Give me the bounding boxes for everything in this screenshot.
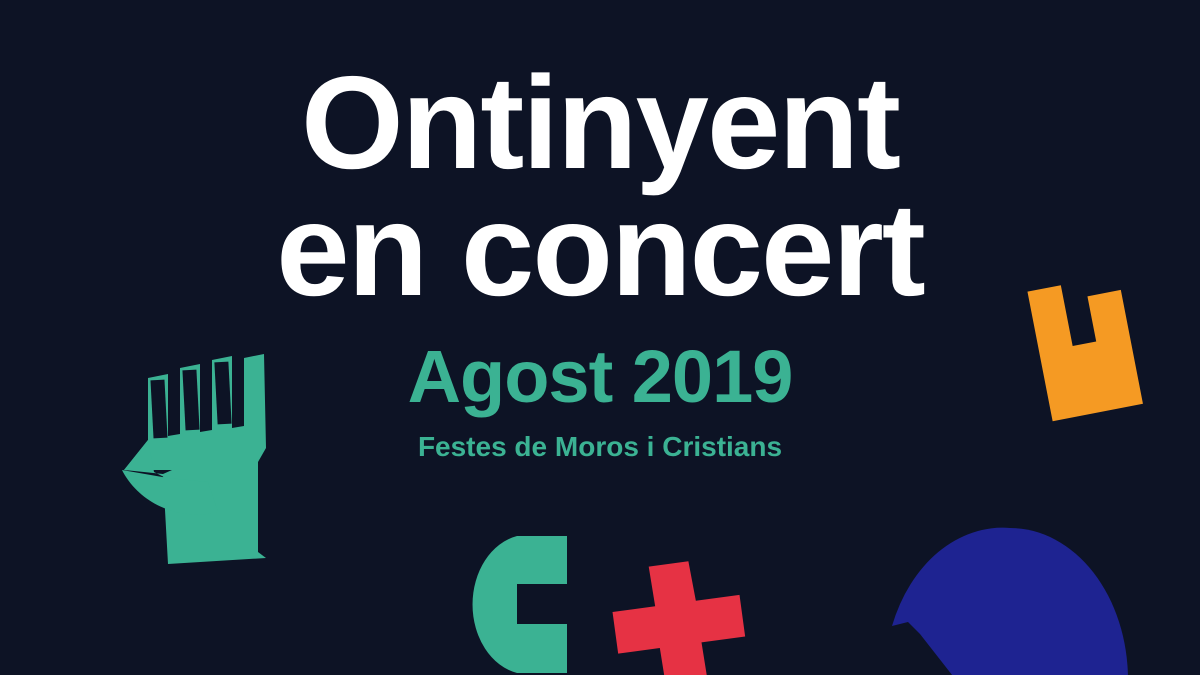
raised-hand-icon <box>108 352 283 567</box>
u-block-icon <box>1014 272 1154 432</box>
cross-icon <box>602 556 762 675</box>
pac-circle-icon <box>878 510 1143 675</box>
c-ring-icon <box>455 528 567 675</box>
poster-canvas: Ontinyent en concert Agost 2019 Festes d… <box>0 0 1200 675</box>
page-title-line-1: Ontinyent <box>0 0 1200 185</box>
